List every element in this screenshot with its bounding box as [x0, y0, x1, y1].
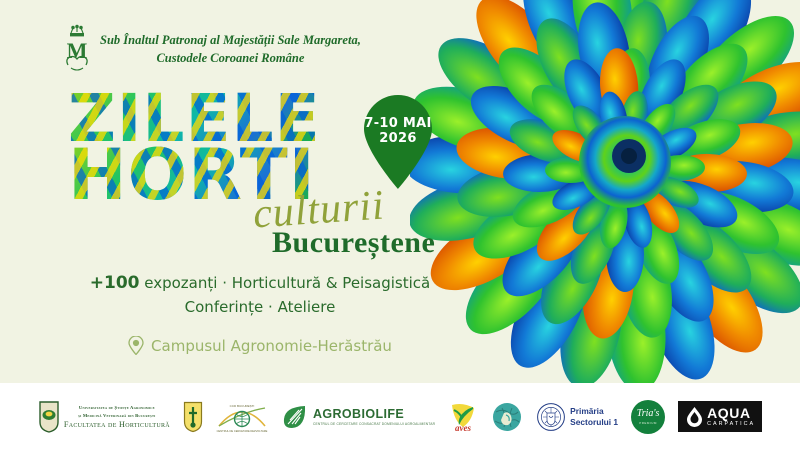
agrobiolife-tagline: CENTRUL DE CERCETARE CONSACRAT DOMENIULU… [313, 422, 435, 426]
location-pin-icon [128, 336, 144, 355]
sponsor-aqua-carpatica: AQUA CARPATICA [678, 401, 762, 432]
chrysanthemum-flower-photo [410, 0, 800, 400]
sponsor-globe-emblem [491, 401, 523, 433]
sponsor-horticultura-emblem [183, 401, 203, 433]
info-block: +100 expozanți · Horticultură & Peisagis… [60, 270, 460, 320]
svg-text:CCD BUCUREȘTI: CCD BUCUREȘTI [230, 404, 255, 408]
aqua-name: AQUA [707, 406, 755, 420]
sponsor-bar: Universitatea de Științe Agronomice și M… [0, 383, 800, 450]
sponsor-trias: Tria's PREMIUM [631, 400, 665, 434]
svg-text:CENTRUL DE CERCETARE DEZVOLTAR: CENTRUL DE CERCETARE DEZVOLTARE [217, 429, 268, 433]
usamv-line-2: și Medicină Veterinară din București [64, 412, 170, 419]
primaria-line-1: Primăria [570, 406, 618, 417]
info-line-1-rest: expozanți · Horticultură & Peisagistică [140, 274, 431, 292]
usamv-text: Universitatea de Științe Agronomice și M… [64, 404, 170, 428]
usamv-crest-icon [38, 400, 60, 434]
patronage-block: M Sub Înaltul Patronaj al Majestății Sal… [62, 20, 402, 78]
agrobiolife-text: AGROBIOLIFE CENTRUL DE CERCETARE CONSACR… [313, 407, 435, 426]
royal-monogram-crown-icon: M [62, 20, 92, 78]
sponsor-agrobiolife: AGROBIOLIFE CENTRUL DE CERCETARE CONSACR… [281, 403, 435, 431]
agrobiolife-name: AGROBIOLIFE [313, 407, 435, 421]
svg-text:M: M [67, 38, 88, 63]
venue-block: Campusul Agronomie-Herăstrău [60, 336, 460, 355]
agrobiolife-leaf-icon [281, 403, 309, 431]
aqua-sub: CARPATICA [707, 421, 755, 427]
horticultura-emblem-icon [183, 401, 203, 433]
info-line-1: +100 expozanți · Horticultură & Peisagis… [60, 270, 460, 296]
aves-label: aves [455, 423, 471, 433]
date-line-1: 7-10 MAI [358, 116, 438, 131]
event-poster: M Sub Înaltul Patronaj al Majestății Sal… [0, 0, 800, 450]
sponsor-aves: aves [448, 401, 478, 433]
water-drop-icon [685, 406, 704, 427]
usamv-line-3: Facultatea de Horticultură [64, 420, 170, 429]
patronage-text: Sub Înaltul Patronaj al Majestății Sale … [100, 20, 361, 67]
aves-logo-icon: aves [448, 401, 478, 433]
sponsor-usamv: Universitatea de Științe Agronomice și M… [38, 400, 170, 434]
primaria-line-2: Sectorului 1 [570, 417, 618, 428]
venue-label: Campusul Agronomie-Herăstrău [151, 337, 392, 355]
ccd-bucuresti-logo-icon: CCD BUCUREȘTI CENTRUL DE CERCETARE DEZVO… [216, 400, 268, 434]
title-city-bucurestene: Bucureștene [272, 226, 435, 260]
trias-sub: PREMIUM [639, 421, 657, 425]
date-line-2: 2026 [358, 131, 438, 146]
info-line-2: Conferințe · Ateliere [60, 296, 460, 319]
patronage-line-1: Sub Înaltul Patronaj al Majestății Sale … [100, 31, 361, 49]
primaria-crest-icon [536, 401, 566, 433]
exhibitor-count: +100 [90, 273, 140, 293]
sponsor-primaria-sectorului-1: Primăria Sectorului 1 [536, 401, 618, 433]
sponsor-ccd-bucuresti: CCD BUCUREȘTI CENTRUL DE CERCETARE DEZVO… [216, 400, 268, 434]
patronage-line-2: Custodele Coroanei Române [100, 49, 361, 67]
date-badge: 7-10 MAI 2026 [358, 92, 438, 190]
usamv-line-1: Universitatea de Științe Agronomice [64, 404, 170, 411]
primaria-text: Primăria Sectorului 1 [570, 406, 618, 427]
trias-label: Tria's [637, 409, 660, 419]
globe-emblem-icon [491, 401, 523, 433]
